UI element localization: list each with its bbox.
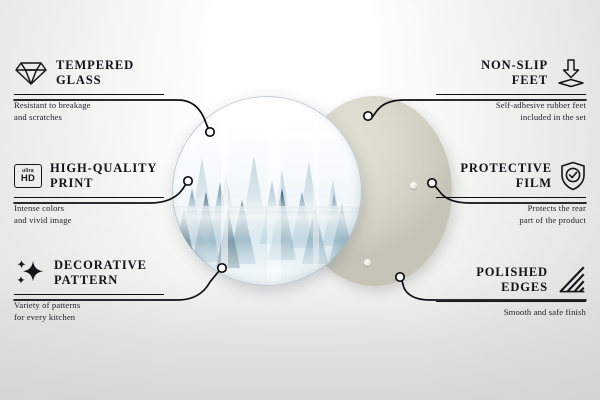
feature-desc-line1: Resistant to breakage [14,99,164,111]
feature-desc-line2: and scratches [14,111,164,123]
feature-desc-line1: Protects the rear [436,202,586,214]
feature-title-line2: PATTERN [54,273,147,288]
feature-desc-line1: Variety of patterns [14,299,164,311]
ultra-hd-icon: ultra HD [14,164,42,188]
feature-description: Protects the rear part of the product [436,202,586,226]
feature-description: Self-adhesive rubber feet included in th… [436,99,586,123]
feature-title: TEMPERED GLASS [56,58,134,89]
rubber-foot [410,182,417,189]
diamond-icon [14,60,48,86]
board-front-side [172,96,362,286]
feature-rule [14,294,164,296]
feature-polished-edges: POLISHED EDGES Smooth and safe finish [436,265,586,318]
feature-title-line1: NON-SLIP [481,58,548,73]
feature-rule [14,94,164,96]
feature-high-quality-print: ultra HD HIGH-QUALITY PRINT Intense colo… [14,161,164,227]
feature-title: POLISHED EDGES [476,265,548,296]
feature-protective-film: PROTECTIVE FILM Protects the rear part o… [436,161,586,227]
feature-desc-line2: and vivid image [14,214,164,226]
feature-description: Smooth and safe finish [436,306,586,318]
hatched-triangle-icon [556,266,586,294]
ultra-hd-icon-main-text: HD [21,174,35,184]
feature-title-line1: PROTECTIVE [460,161,552,176]
feature-rule [14,197,164,199]
feature-title-line2: GLASS [56,73,134,88]
feature-description: Resistant to breakage and scratches [14,99,164,123]
feature-tempered-glass: TEMPERED GLASS Resistant to breakage and… [14,58,164,124]
feature-title: NON-SLIP FEET [481,58,548,89]
feature-header: NON-SLIP FEET [436,58,586,89]
feature-header: PROTECTIVE FILM [436,161,586,192]
feature-title: PROTECTIVE FILM [460,161,552,192]
feature-title-line2: FILM [460,176,552,191]
feature-title-line2: EDGES [476,280,548,295]
sparkles-icon [14,259,46,287]
feature-title-line2: PRINT [50,176,157,191]
feature-desc-line1: Smooth and safe finish [436,306,586,318]
infographic-canvas: TEMPERED GLASS Resistant to breakage and… [0,0,600,400]
feature-header: POLISHED EDGES [436,265,586,296]
feature-description: Variety of patterns for every kitchen [14,299,164,323]
glass-edge-rim [172,96,362,286]
feature-title: HIGH-QUALITY PRINT [50,161,157,192]
feature-header: DECORATIVE PATTERN [14,258,164,289]
shield-check-icon [560,161,586,191]
feature-desc-line1: Intense colors [14,202,164,214]
feature-title: DECORATIVE PATTERN [54,258,147,289]
feature-rule [436,301,586,303]
feature-non-slip-feet: NON-SLIP FEET Self-adhesive rubber feet … [436,58,586,124]
feature-desc-line2: for every kitchen [14,311,164,323]
feature-rule [436,197,586,199]
feature-desc-line2: included in the set [436,111,586,123]
rubber-foot [364,259,371,266]
feature-decorative-pattern: DECORATIVE PATTERN Variety of patterns f… [14,258,164,324]
feature-title-line1: DECORATIVE [54,258,147,273]
feature-header: ultra HD HIGH-QUALITY PRINT [14,161,164,192]
feature-desc-line2: part of the product [436,214,586,226]
feature-header: TEMPERED GLASS [14,58,164,89]
feature-description: Intense colors and vivid image [14,202,164,226]
press-down-arrow-icon [556,58,586,88]
feature-rule [436,94,586,96]
feature-desc-line1: Self-adhesive rubber feet [436,99,586,111]
feature-title-line2: FEET [481,73,548,88]
feature-title-line1: POLISHED [476,265,548,280]
feature-title-line1: TEMPERED [56,58,134,73]
feature-title-line1: HIGH-QUALITY [50,161,157,176]
rubber-foot [364,112,371,119]
